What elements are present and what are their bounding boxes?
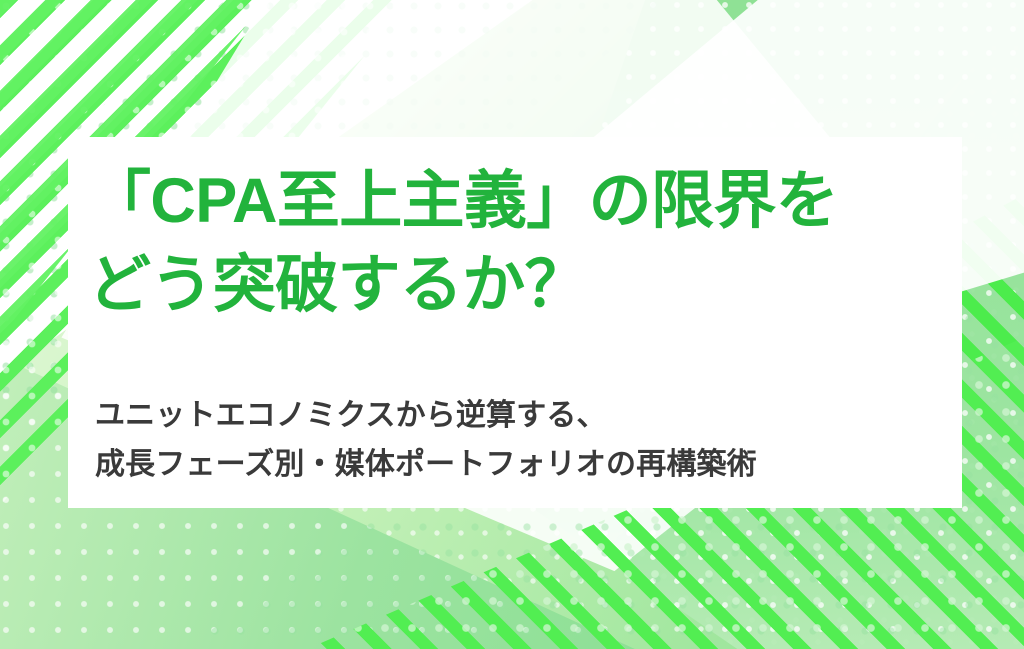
subtitle-line-1: ユニットエコノミクスから逆算する、 <box>95 392 757 441</box>
banner-canvas: 「CPA至上主義」の限界を どう突破するか？ ユニットエコノミクスから逆算する、… <box>0 0 1024 649</box>
title-block: 「CPA至上主義」の限界を どう突破するか？ <box>88 160 838 328</box>
subtitle-line-2: 成長フェーズ別・媒体ポートフォリオの再構築術 <box>95 441 757 490</box>
title-line-2: どう突破するか？ <box>88 244 838 328</box>
title-line-1: 「CPA至上主義」の限界を <box>88 160 838 244</box>
subtitle-block: ユニットエコノミクスから逆算する、 成長フェーズ別・媒体ポートフォリオの再構築術 <box>95 392 757 489</box>
